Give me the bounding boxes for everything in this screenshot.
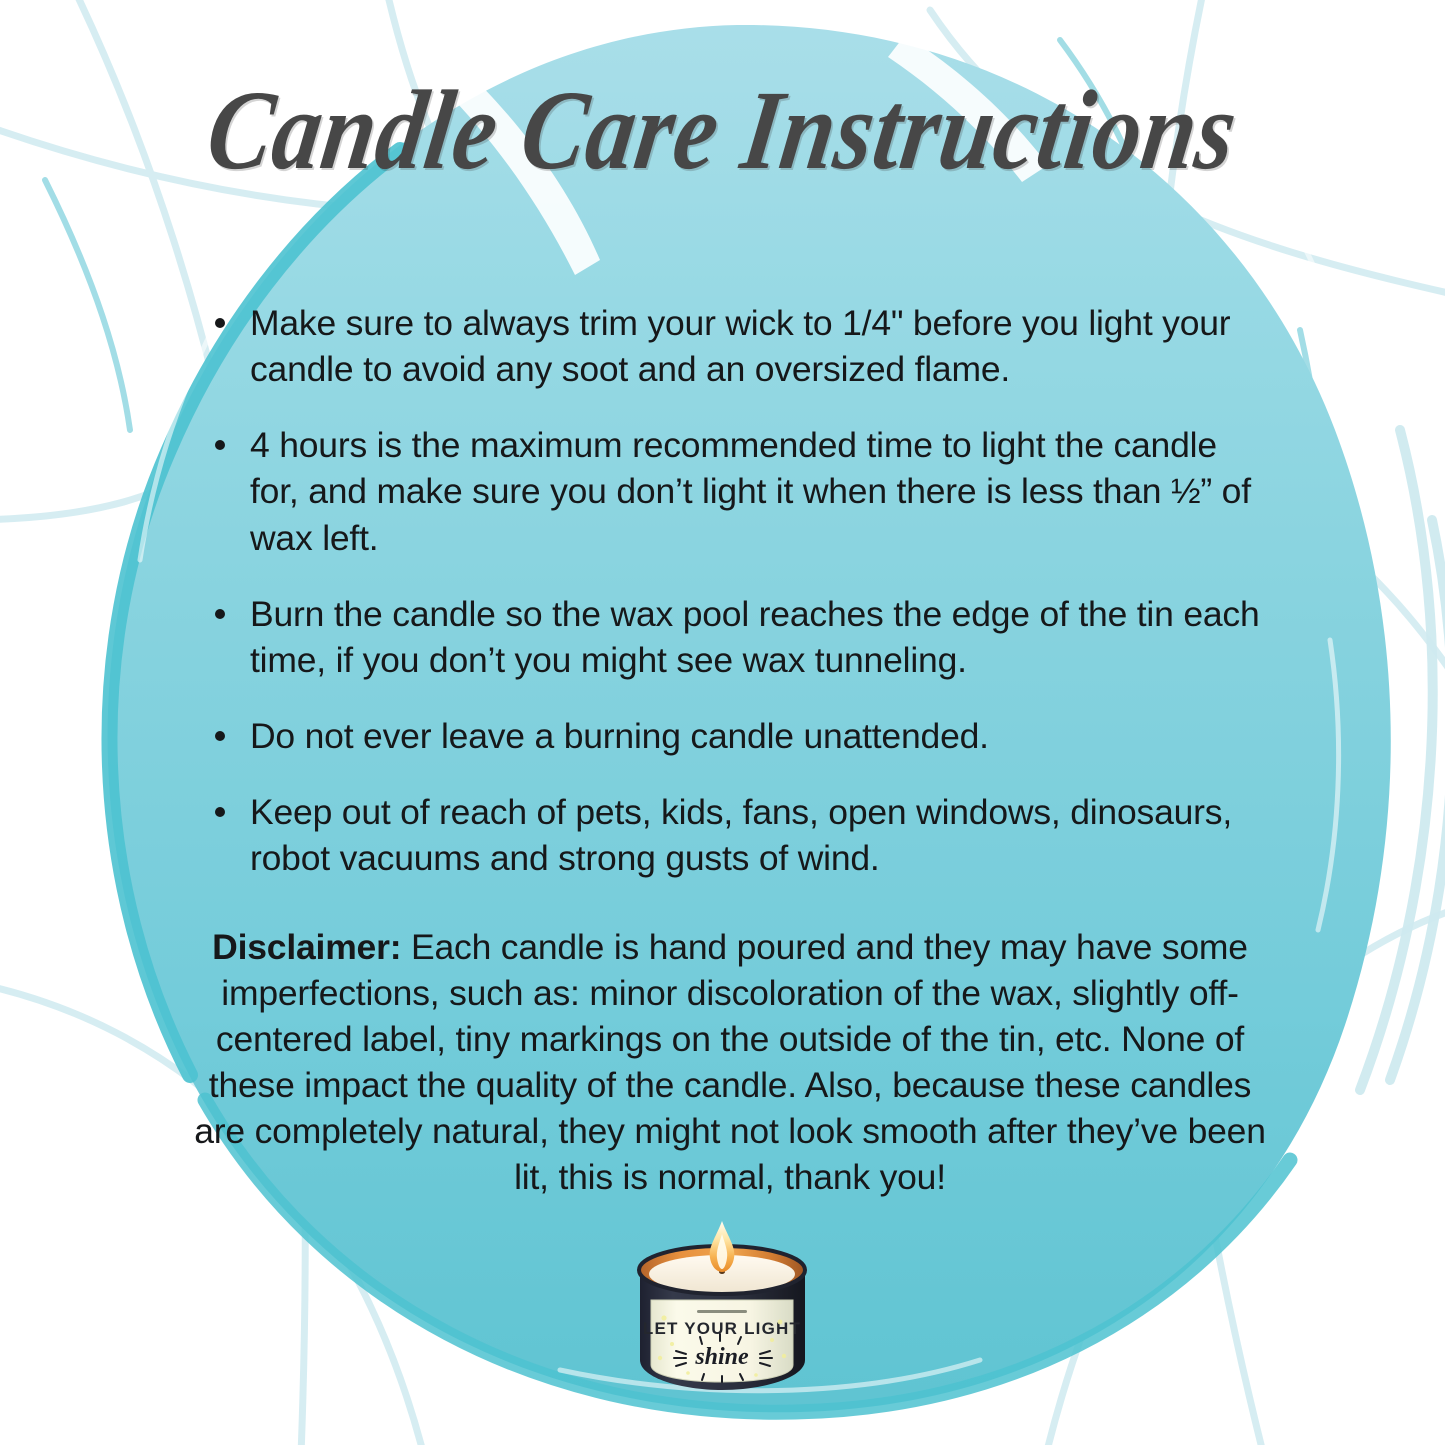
candle-label-line2: shine bbox=[694, 1344, 749, 1370]
instruction-list: Make sure to always trim your wick to 1/… bbox=[205, 300, 1275, 911]
disclaimer-body: Each candle is hand poured and they may … bbox=[194, 927, 1266, 1198]
page-title-container: Candle Care Instructions bbox=[0, 82, 1445, 178]
candle-label-line1: LET YOUR LIGHT bbox=[643, 1319, 801, 1338]
candle-label-topmark bbox=[697, 1310, 747, 1313]
instruction-item-2: 4 hours is the maximum recommended time … bbox=[205, 422, 1275, 560]
candle-care-instructions-card: Candle Care Instructions Make sure to al… bbox=[0, 0, 1445, 1445]
disclaimer-paragraph: Disclaimer: Each candle is hand poured a… bbox=[185, 924, 1275, 1201]
page-title: Candle Care Instructions bbox=[201, 73, 1244, 186]
disclaimer-label: Disclaimer: bbox=[212, 927, 401, 967]
instruction-item-5: Keep out of reach of pets, kids, fans, o… bbox=[205, 789, 1275, 881]
instruction-item-1: Make sure to always trim your wick to 1/… bbox=[205, 300, 1275, 392]
candle-illustration: LET YOUR LIGHT shine bbox=[620, 1218, 825, 1403]
instruction-item-4: Do not ever leave a burning candle unatt… bbox=[205, 713, 1275, 759]
instruction-item-3: Burn the candle so the wax pool reaches … bbox=[205, 591, 1275, 683]
